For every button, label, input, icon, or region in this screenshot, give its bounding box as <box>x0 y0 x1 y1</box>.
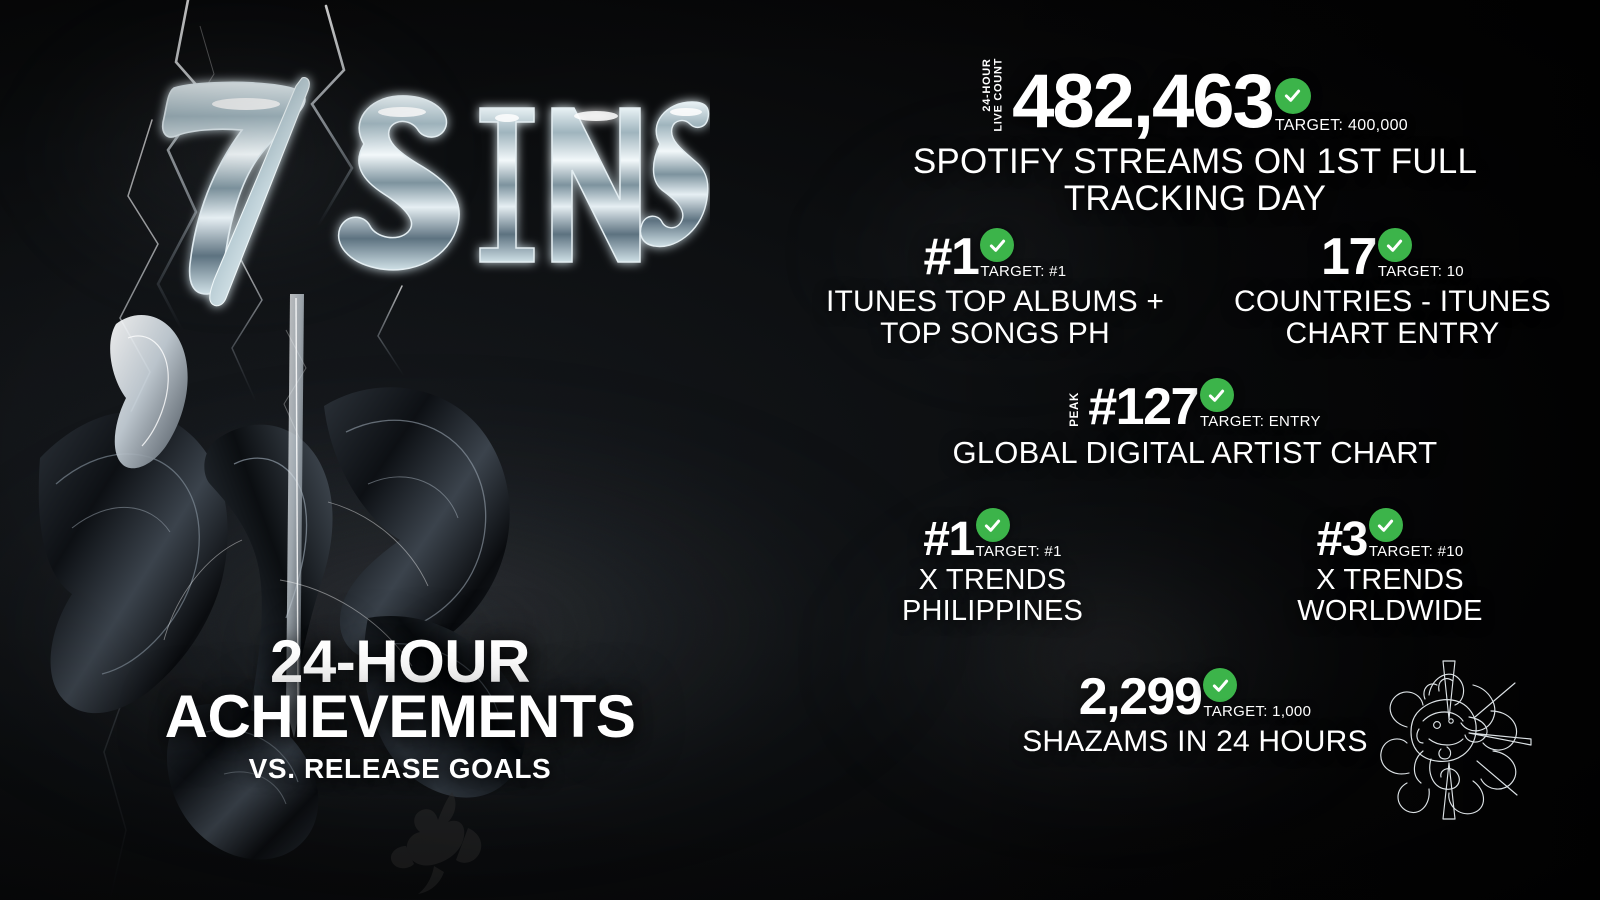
artist-emblem-icon <box>1365 655 1535 825</box>
stat-target: TARGET: ENTRY <box>1200 413 1321 430</box>
stat-spotify-streams: 24-HOURLIVE COUNT 482,463 TARGET: 400,00… <box>790 58 1600 217</box>
stat-badge-group: TARGET: #10 <box>1369 508 1464 560</box>
caption-line-2: TRACKING DAY <box>1064 179 1326 218</box>
rot-label-line-1: 24-HOUR <box>981 58 993 111</box>
stat-value: #1 <box>923 519 973 560</box>
stat-rotated-label: 24-HOURLIVE COUNT <box>982 58 1005 132</box>
stat-value-row: #1 TARGET: #1 <box>800 228 1190 280</box>
stat-countries-itunes: 17 TARGET: 10 COUNTRIES - ITUNES CHART E… <box>1195 228 1590 350</box>
caption-line-2: TOP SONGS PH <box>880 317 1110 350</box>
stat-value: 2,299 <box>1079 675 1202 720</box>
stat-value-row: 17 TARGET: 10 <box>1195 228 1590 280</box>
album-title-logo <box>150 52 710 322</box>
stat-value: 17 <box>1321 235 1376 280</box>
stat-value: #127 <box>1088 385 1198 430</box>
stat-value-row: 24-HOURLIVE COUNT 482,463 TARGET: 400,00… <box>790 58 1600 135</box>
stat-value: #3 <box>1316 519 1366 560</box>
stat-x-trends-philippines: #1 TARGET: #1 X TRENDS PHILIPPINES <box>800 508 1185 626</box>
caption-line-1: COUNTRIES - ITUNES <box>1234 285 1551 318</box>
headline-block: 24-HOUR ACHIEVEMENTS VS. RELEASE GOALS <box>70 634 730 785</box>
stat-badge-group: TARGET: 10 <box>1378 228 1464 280</box>
stat-target: TARGET: 10 <box>1378 263 1464 280</box>
caption-line-1: GLOBAL DIGITAL ARTIST CHART <box>953 435 1438 470</box>
stat-target: TARGET: 1,000 <box>1203 703 1311 720</box>
stat-caption: X TRENDS PHILIPPINES <box>800 565 1185 626</box>
stat-x-trends-worldwide: #3 TARGET: #10 X TRENDS WORLDWIDE <box>1190 508 1590 626</box>
stat-value-row: PEAK #127 TARGET: ENTRY <box>790 378 1600 430</box>
caption-line-1: X TRENDS <box>1316 564 1464 596</box>
headline-line-1: 24-HOUR <box>70 634 730 689</box>
stat-rotated-label: PEAK <box>1069 392 1081 427</box>
caption-line-1: SHAZAMS IN 24 HOURS <box>1022 725 1368 758</box>
stat-target: TARGET: #1 <box>976 543 1062 560</box>
check-icon <box>976 508 1010 542</box>
check-icon <box>1378 228 1412 262</box>
stat-caption: ITUNES TOP ALBUMS + TOP SONGS PH <box>800 286 1190 350</box>
rot-label-line-2: LIVE COUNT <box>993 58 1005 132</box>
stat-badge-group: TARGET: #1 <box>976 508 1062 560</box>
stat-target: TARGET: #1 <box>980 263 1066 280</box>
stat-badge-group: TARGET: 400,000 <box>1275 78 1408 135</box>
check-icon <box>1275 78 1311 114</box>
caption-line-1: SPOTIFY STREAMS ON 1ST FULL <box>913 142 1477 181</box>
stat-value: #1 <box>924 235 979 280</box>
stat-caption: COUNTRIES - ITUNES CHART ENTRY <box>1195 286 1590 350</box>
caption-line-2: PHILIPPINES <box>902 595 1083 627</box>
stat-global-digital-artist: PEAK #127 TARGET: ENTRY GLOBAL DIGITAL A… <box>790 378 1600 470</box>
album-artwork-panel: 24-HOUR ACHIEVEMENTS VS. RELEASE GOALS <box>0 0 790 900</box>
check-icon <box>1369 508 1403 542</box>
stat-caption: SPOTIFY STREAMS ON 1ST FULL TRACKING DAY <box>790 143 1600 217</box>
caption-line-1: ITUNES TOP ALBUMS + <box>826 285 1164 318</box>
caption-line-1: X TRENDS <box>919 564 1067 596</box>
check-icon <box>1203 668 1237 702</box>
stat-badge-group: TARGET: ENTRY <box>1200 378 1321 430</box>
stat-value-row: #3 TARGET: #10 <box>1190 508 1590 560</box>
caption-line-2: WORLDWIDE <box>1297 595 1482 627</box>
caption-line-2: CHART ENTRY <box>1286 317 1500 350</box>
stat-badge-group: TARGET: #1 <box>980 228 1066 280</box>
stat-value: 482,463 <box>1012 69 1273 134</box>
flame-rooster-watermark <box>378 788 510 896</box>
stat-caption: GLOBAL DIGITAL ARTIST CHART <box>790 437 1600 470</box>
stat-caption: X TRENDS WORLDWIDE <box>1190 565 1590 626</box>
stat-value-row: #1 TARGET: #1 <box>800 508 1185 560</box>
stat-badge-group: TARGET: 1,000 <box>1203 668 1311 720</box>
check-icon <box>1200 378 1234 412</box>
stat-itunes-top-albums: #1 TARGET: #1 ITUNES TOP ALBUMS + TOP SO… <box>800 228 1190 350</box>
headline-subtitle: VS. RELEASE GOALS <box>70 753 730 785</box>
infographic-canvas: 24-HOUR ACHIEVEMENTS VS. RELEASE GOALS 2… <box>0 0 1600 900</box>
check-icon <box>980 228 1014 262</box>
headline-line-2: ACHIEVEMENTS <box>70 689 730 744</box>
stat-target: TARGET: 400,000 <box>1275 117 1408 135</box>
stat-target: TARGET: #10 <box>1369 543 1464 560</box>
